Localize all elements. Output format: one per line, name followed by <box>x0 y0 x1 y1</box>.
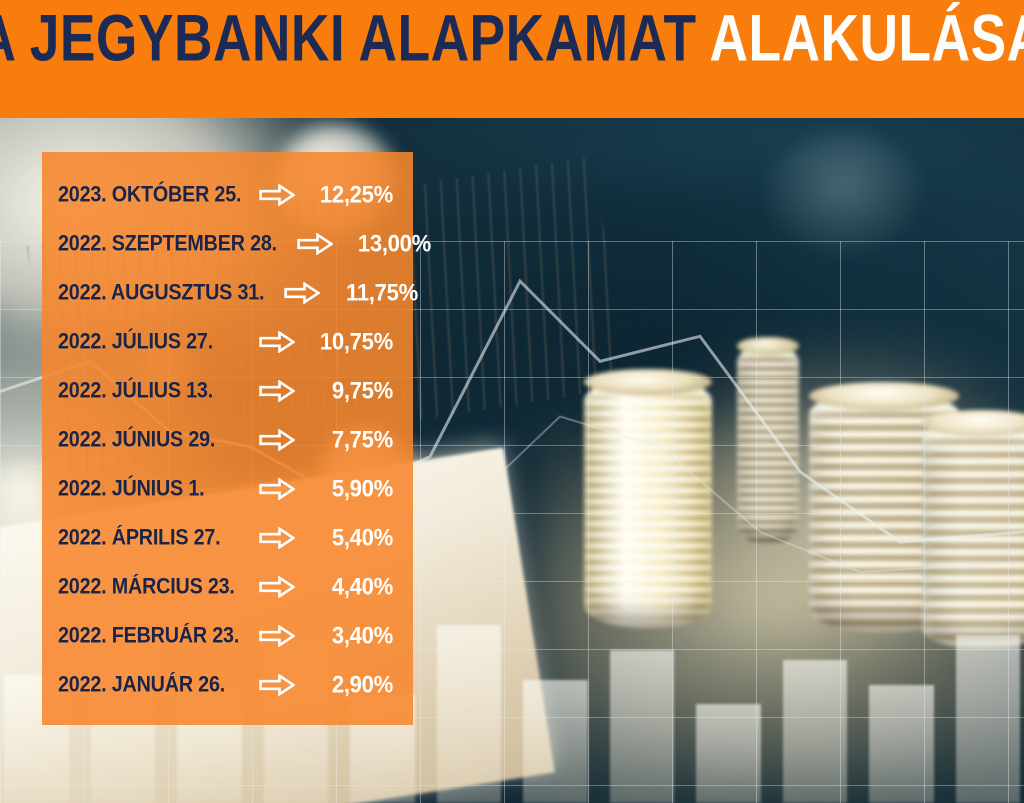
arrow-right-outline-icon <box>257 674 297 696</box>
rate-value: 13,00% <box>343 229 431 258</box>
page-title: A JEGYBANKI ALAPKAMATALAKULÁSA <box>0 6 1024 72</box>
arrow-right-outline-icon <box>257 478 297 500</box>
rate-date: 2022. JÚLIUS 13. <box>58 378 213 403</box>
rate-value: 9,75% <box>305 376 393 405</box>
rate-value: 12,25% <box>305 180 393 209</box>
rate-date: 2023. OKTÓBER 25. <box>58 182 241 207</box>
rate-row: 2023. OKTÓBER 25.12,25% <box>42 170 413 219</box>
header-band: A JEGYBANKI ALAPKAMATALAKULÁSA <box>0 0 1024 118</box>
rate-row: 2022. JÚNIUS 1.5,90% <box>42 464 413 513</box>
rates-panel: 2023. OKTÓBER 25.12,25%2022. SZEPTEMBER … <box>42 152 413 725</box>
arrow-right-outline-icon <box>257 331 297 353</box>
rate-row: 2022. MÁRCIUS 23.4,40% <box>42 562 413 611</box>
arrow-right-outline-icon <box>257 527 297 549</box>
arrow-right-outline-icon <box>282 282 322 304</box>
rate-row: 2022. JÚLIUS 13.9,75% <box>42 366 413 415</box>
rate-date: 2022. JÚLIUS 27. <box>58 329 213 354</box>
arrow-right-outline-icon <box>257 625 297 647</box>
rates-list: 2023. OKTÓBER 25.12,25%2022. SZEPTEMBER … <box>42 170 413 709</box>
rate-date: 2022. AUGUSZTUS 31. <box>58 280 264 305</box>
infographic-root: A JEGYBANKI ALAPKAMATALAKULÁSA 2023. OKT… <box>0 0 1024 803</box>
rate-date: 2022. JÚNIUS 1. <box>58 476 204 501</box>
rate-row: 2022. SZEPTEMBER 28.13,00% <box>42 219 413 268</box>
rate-date: 2022. FEBRUÁR 23. <box>58 623 239 648</box>
rate-value: 11,75% <box>329 278 417 307</box>
rate-row: 2022. JÚNIUS 29.7,75% <box>42 415 413 464</box>
rate-date: 2022. SZEPTEMBER 28. <box>58 231 277 256</box>
arrow-right-outline-icon <box>257 429 297 451</box>
arrow-right-outline-icon <box>257 184 297 206</box>
arrow-right-outline-icon <box>257 380 297 402</box>
rate-value: 2,90% <box>305 670 393 699</box>
rate-row: 2022. JANUÁR 26.2,90% <box>42 660 413 709</box>
rate-value: 3,40% <box>305 621 393 650</box>
arrow-right-outline-icon <box>295 233 335 255</box>
page-title-secondary: ALAKULÁSA <box>710 1 1024 75</box>
rate-date: 2022. JÚNIUS 29. <box>58 427 215 452</box>
rate-date: 2022. MÁRCIUS 23. <box>58 574 235 599</box>
rate-value: 5,90% <box>305 474 393 503</box>
rate-value: 10,75% <box>305 327 393 356</box>
rate-value: 4,40% <box>305 572 393 601</box>
bokeh-circle <box>768 132 918 252</box>
rate-row: 2022. JÚLIUS 27.10,75% <box>42 317 413 366</box>
arrow-right-outline-icon <box>257 576 297 598</box>
rate-row: 2022. FEBRUÁR 23.3,40% <box>42 611 413 660</box>
rate-value: 5,40% <box>305 523 393 552</box>
rate-date: 2022. JANUÁR 26. <box>58 672 225 697</box>
rate-row: 2022. AUGUSZTUS 31.11,75% <box>42 268 413 317</box>
rate-row: 2022. ÁPRILIS 27.5,40% <box>42 513 413 562</box>
rate-value: 7,75% <box>305 425 393 454</box>
page-title-primary: A JEGYBANKI ALAPKAMAT <box>0 1 697 75</box>
rate-date: 2022. ÁPRILIS 27. <box>58 525 220 550</box>
